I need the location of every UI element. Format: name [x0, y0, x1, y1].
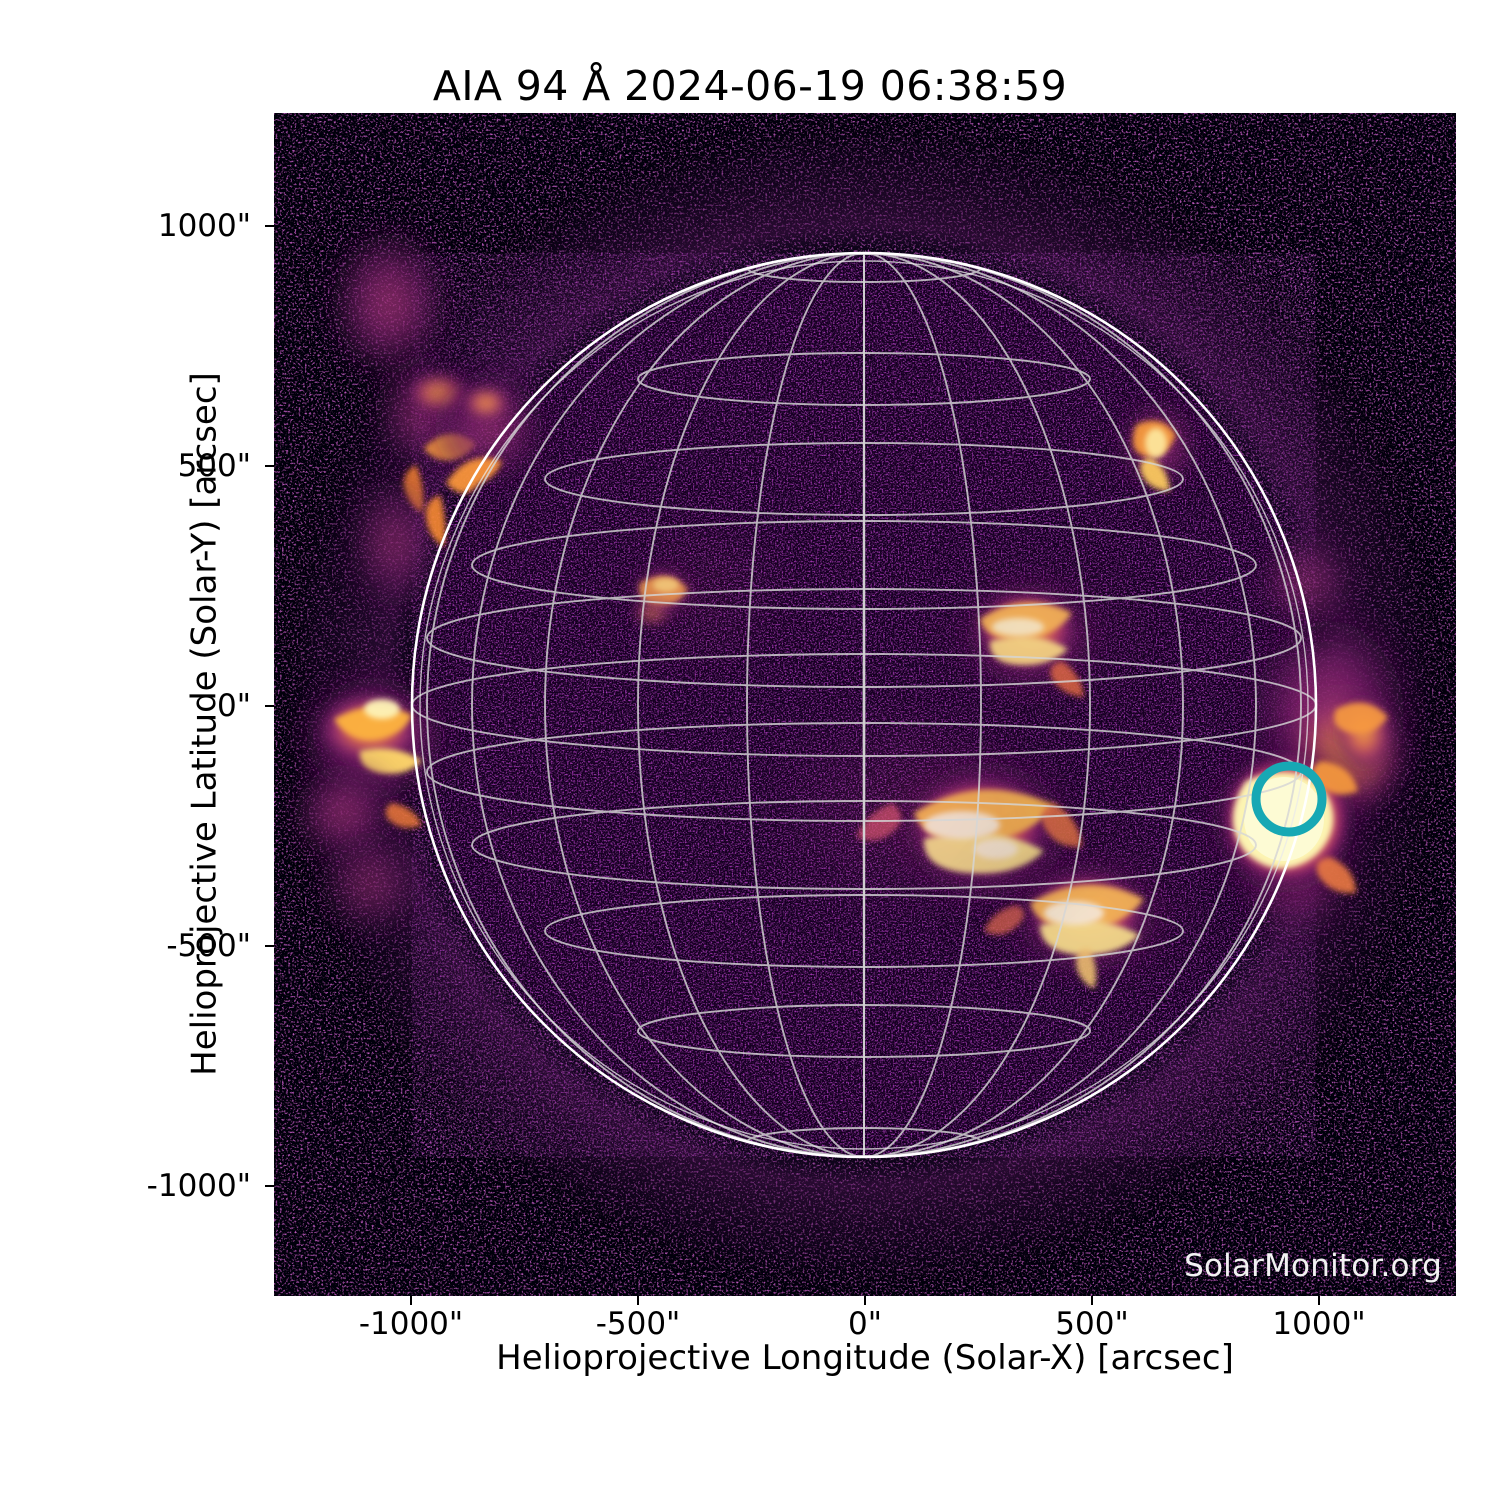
solar-disk-image — [274, 113, 1456, 1296]
ytick-mark-4 — [265, 1185, 274, 1187]
watermark: SolarMonitor.org — [1184, 1248, 1442, 1284]
y-axis-label: Helioprojective Latitude (Solar-Y) [arcs… — [185, 133, 225, 1316]
xtick-mark-3 — [1091, 1296, 1093, 1305]
xtick-mark-4 — [1318, 1296, 1320, 1305]
xtick-mark-1 — [637, 1296, 639, 1305]
ytick-mark-3 — [265, 945, 274, 947]
ytick-mark-2 — [265, 705, 274, 707]
ytick-mark-1 — [265, 465, 274, 467]
xtick-label-zero: 0" — [848, 1306, 882, 1342]
solar-image-figure: AIA 94 Å 2024-06-19 06:38:59 — [0, 0, 1500, 1500]
page-title: AIA 94 Å 2024-06-19 06:38:59 — [0, 62, 1500, 110]
solar-image-plot-area[interactable]: SolarMonitor.org — [274, 113, 1456, 1296]
xtick-label-minus1000: -1000" — [359, 1306, 463, 1342]
xtick-mark-2 — [864, 1296, 866, 1305]
xtick-label-500: 500" — [1055, 1306, 1128, 1342]
x-axis-label: Helioprojective Longitude (Solar-X) [arc… — [274, 1338, 1456, 1378]
xtick-label-minus500: -500" — [596, 1306, 681, 1342]
xtick-label-1000: 1000" — [1272, 1306, 1365, 1342]
xtick-mark-0 — [410, 1296, 412, 1305]
ytick-mark-0 — [265, 225, 274, 227]
